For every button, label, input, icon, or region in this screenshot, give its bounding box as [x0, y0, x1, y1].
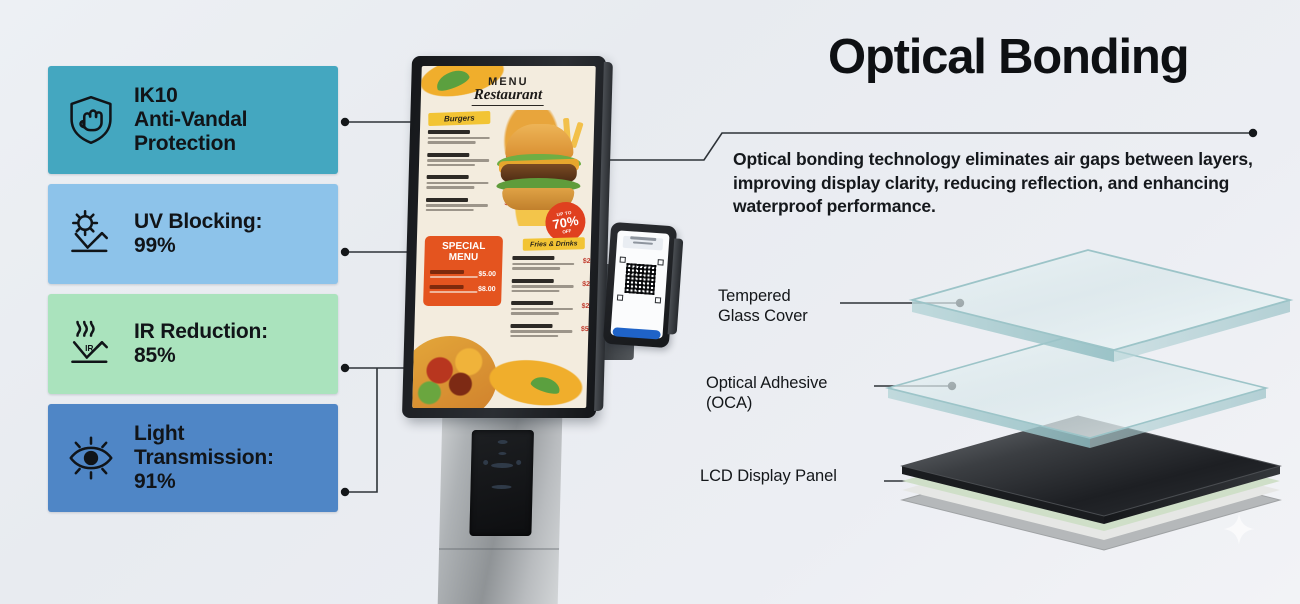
menu-section-special: SPECIALMENU — [430, 242, 497, 263]
menu-item-price: $2.00 — [582, 281, 596, 288]
infographic-canvas: IK10Anti-VandalProtection UV Blocking:99… — [0, 0, 1300, 604]
menu-section-drinks: Fries & Drinks — [523, 237, 585, 251]
feature-label-light: LightTransmission:91% — [134, 422, 274, 493]
feature-label-uv: UV Blocking:99% — [134, 210, 262, 257]
tempered-glass-layer — [912, 250, 1290, 362]
stack-label-oca: Optical Adhesive(OCA) — [706, 373, 827, 413]
optical-adhesive-layer — [888, 338, 1266, 448]
menu-item-price: $2.00 — [583, 258, 596, 265]
shield-fist-icon — [62, 91, 120, 149]
menu-drink-items: $2.00 $2.00 $2.00 $5.00 — [510, 256, 587, 346]
sun-deflect-icon — [62, 205, 120, 263]
feature-card-ir[interactable]: IR IR Reduction:85% — [48, 294, 338, 394]
menu-item: $5.00 — [510, 324, 584, 338]
discount-bottom: OFF — [562, 228, 572, 234]
terminal-header-text — [623, 236, 664, 251]
menu-section-burgers: Burgers — [428, 111, 490, 126]
menu-header: MENU Restaurant — [421, 76, 596, 106]
menu-item-price: $5.00 — [581, 326, 596, 333]
kiosk-display[interactable]: MENU Restaurant Burgers $2.00 $2.00 $2.0… — [402, 56, 606, 418]
kiosk-card-reader-panel[interactable] — [469, 430, 534, 536]
menu-screen-content: MENU Restaurant Burgers $2.00 $2.00 $2.0… — [412, 66, 596, 408]
eye-icon — [62, 429, 120, 487]
stack-label-tempered-glass: TemperedGlass Cover — [718, 286, 808, 326]
menu-item: $5.00 — [430, 270, 496, 278]
menu-title-script: Restaurant — [421, 87, 595, 104]
heat-deflect-icon: IR — [62, 315, 120, 373]
menu-item-price: $2.00 — [581, 303, 595, 310]
menu-item: $2.00 — [511, 279, 585, 293]
feature-card-list: IK10Anti-VandalProtection UV Blocking:99… — [48, 66, 338, 522]
menu-item-price: $5.00 — [478, 271, 496, 278]
page-title: Optical Bonding — [828, 33, 1278, 82]
feature-card-ik10[interactable]: IK10Anti-VandalProtection — [48, 66, 338, 174]
payment-terminal[interactable] — [603, 222, 677, 348]
sparkle-icon — [1222, 512, 1256, 546]
feature-label-ir: IR Reduction:85% — [134, 320, 268, 367]
self-service-kiosk: MENU Restaurant Burgers $2.00 $2.00 $2.0… — [393, 56, 633, 604]
feature-label-ik10: IK10Anti-VandalProtection — [134, 84, 247, 155]
feature-card-light[interactable]: LightTransmission:91% — [48, 404, 338, 512]
menu-item: $8.00 — [429, 285, 495, 293]
menu-item: $2.00 — [512, 256, 586, 270]
feature-card-uv[interactable]: UV Blocking:99% — [48, 184, 338, 284]
svg-text:IR: IR — [85, 343, 93, 353]
kiosk-pedestal — [438, 416, 563, 604]
qr-code-icon — [624, 263, 656, 295]
layer-stack-diagram — [880, 238, 1300, 578]
menu-item-price: $8.00 — [478, 286, 496, 293]
menu-special-block: SPECIALMENU $5.00 $8.00 — [423, 236, 503, 306]
description-text: Optical bonding technology eliminates ai… — [733, 148, 1273, 219]
stack-label-lcd: LCD Display Panel — [700, 466, 837, 486]
menu-item: $2.00 — [511, 301, 585, 315]
